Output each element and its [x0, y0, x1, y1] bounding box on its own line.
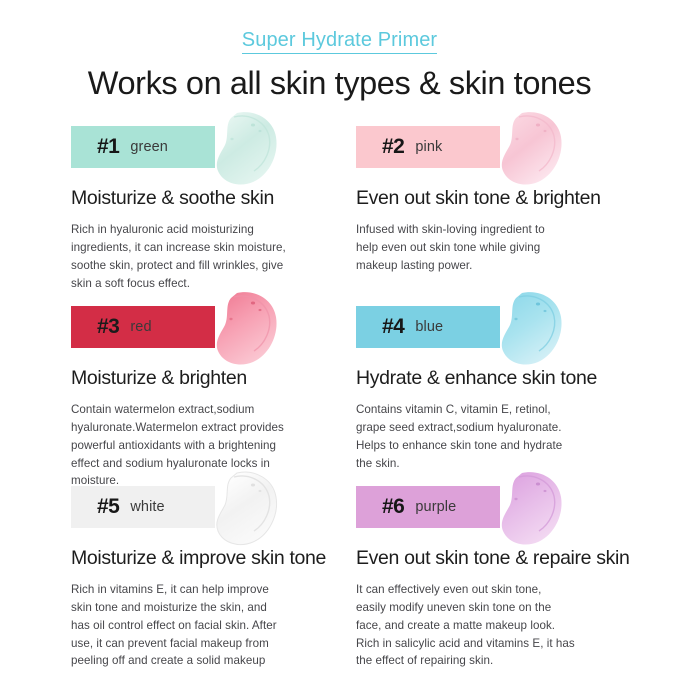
- variant-description: Rich in hyaluronic acid moisturizing ing…: [71, 221, 323, 292]
- variant-number: #6: [382, 495, 404, 519]
- cream-smear-icon: [492, 109, 566, 189]
- variant-description: Infused with skin-loving ingredient to h…: [356, 221, 608, 274]
- variant-description: Contain watermelon extract,sodium hyalur…: [71, 401, 323, 490]
- variant-badge: #4 blue: [356, 306, 500, 348]
- variant-title: Even out skin tone & repaire skin: [356, 547, 641, 570]
- variant-title: Moisturize & soothe skin: [71, 187, 356, 210]
- variant-color-name: green: [130, 139, 168, 155]
- variant-grid: #1 green Moisturize & soothe skin Rich i…: [0, 121, 679, 671]
- variant-card: #4 blue Hydrate & enhance skin tone Cont…: [356, 301, 641, 481]
- badge-row: #5 white: [71, 481, 356, 541]
- variant-badge: #1 green: [71, 126, 215, 168]
- variant-number: #3: [97, 315, 119, 339]
- variant-card: #6 purple Even out skin tone & repaire s…: [356, 481, 641, 671]
- variant-number: #1: [97, 135, 119, 159]
- variant-card: #5 white Moisturize & improve skin tone …: [71, 481, 356, 671]
- variant-number: #4: [382, 315, 404, 339]
- variant-title: Moisturize & improve skin tone: [71, 547, 356, 570]
- variant-color-name: blue: [415, 319, 443, 335]
- variant-color-name: white: [130, 499, 164, 515]
- cream-smear-icon: [207, 109, 281, 189]
- variant-card: #3 red Moisturize & brighten Contain wat…: [71, 301, 356, 481]
- badge-row: #2 pink: [356, 121, 641, 181]
- variant-title: Hydrate & enhance skin tone: [356, 367, 641, 390]
- cream-smear-icon: [492, 289, 566, 369]
- variant-badge: #2 pink: [356, 126, 500, 168]
- variant-color-name: red: [130, 319, 151, 335]
- variant-badge: #6 purple: [356, 486, 500, 528]
- badge-row: #3 red: [71, 301, 356, 361]
- variant-badge: #3 red: [71, 306, 215, 348]
- cream-smear-icon: [492, 469, 566, 549]
- variant-badge: #5 white: [71, 486, 215, 528]
- variant-title: Moisturize & brighten: [71, 367, 356, 390]
- variant-color-name: pink: [415, 139, 442, 155]
- variant-number: #2: [382, 135, 404, 159]
- cream-smear-icon: [207, 469, 281, 549]
- variant-description: Rich in vitamins E, it can help improve …: [71, 581, 323, 670]
- page-title: Works on all skin types & skin tones: [0, 65, 679, 101]
- infographic-page: Super Hydrate Primer Works on all skin t…: [0, 0, 679, 679]
- cream-smear-icon: [207, 289, 281, 369]
- variant-title: Even out skin tone & brighten: [356, 187, 641, 210]
- variant-card: #2 pink Even out skin tone & brighten In…: [356, 121, 641, 301]
- variant-color-name: purple: [415, 499, 456, 515]
- badge-row: #1 green: [71, 121, 356, 181]
- variant-number: #5: [97, 495, 119, 519]
- header: Super Hydrate Primer Works on all skin t…: [0, 0, 679, 101]
- badge-row: #6 purple: [356, 481, 641, 541]
- variant-card: #1 green Moisturize & soothe skin Rich i…: [71, 121, 356, 301]
- product-name: Super Hydrate Primer: [242, 28, 437, 54]
- variant-description: Contains vitamin C, vitamin E, retinol, …: [356, 401, 608, 472]
- variant-description: It can effectively even out skin tone, e…: [356, 581, 608, 670]
- badge-row: #4 blue: [356, 301, 641, 361]
